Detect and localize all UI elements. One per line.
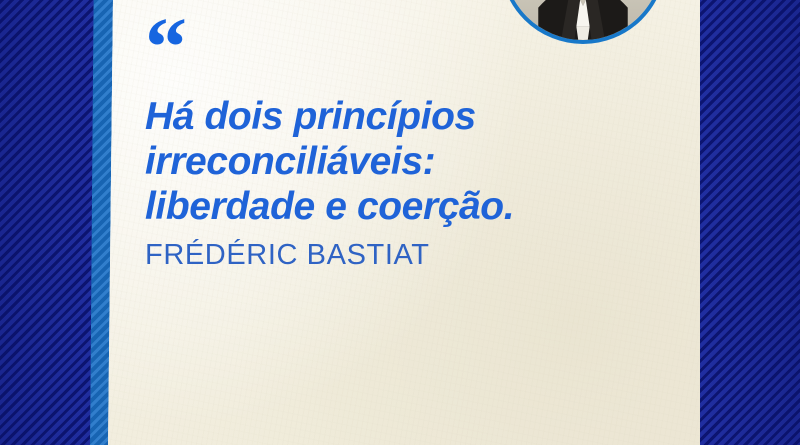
quote-line-3: liberdade e coerção. xyxy=(145,184,675,229)
quote-poster: “ Há dois princípios irreconciliáveis: l… xyxy=(0,0,800,445)
quote-line-2: irreconciliáveis: xyxy=(145,139,675,184)
quote-content: “ Há dois princípios irreconciliáveis: l… xyxy=(145,0,675,272)
quote-text: Há dois princípios irreconciliáveis: lib… xyxy=(145,94,675,230)
quote-author: FRÉDÉRIC BASTIAT xyxy=(145,239,675,272)
quote-mark-icon: “ xyxy=(145,0,675,84)
quote-line-1: Há dois princípios xyxy=(145,94,675,139)
